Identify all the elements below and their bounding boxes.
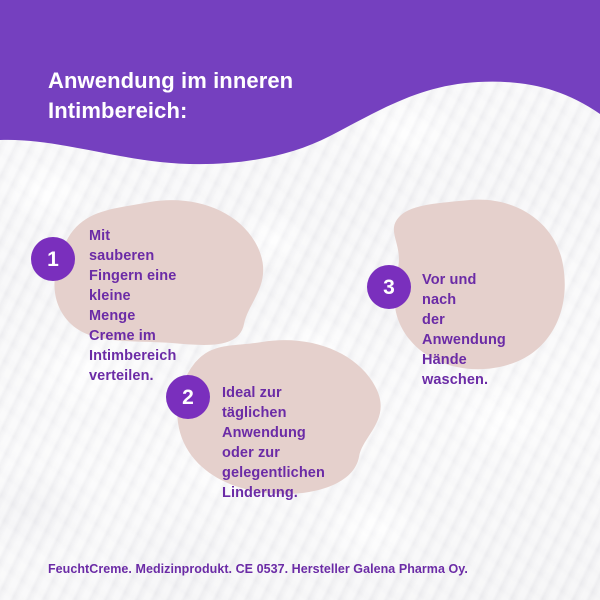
step-number-badge-3: 3 [367,265,411,309]
step-text-2: Ideal zur täglichen Anwendung oder zur g… [222,383,325,503]
step-number-badge-2: 2 [166,375,210,419]
page-title: Anwendung im inneren Intimbereich: [48,66,293,126]
step-number-badge-1: 1 [31,237,75,281]
infographic-panel: Anwendung im inneren Intimbereich: 1 Mit… [0,0,600,600]
footer-legal-note: FeuchtCreme. Medizinprodukt. CE 0537. He… [48,562,468,576]
step-text-1: Mit sauberen Fingern eine kleine Menge C… [89,226,176,386]
step-text-3: Vor und nach der Anwendung Hände waschen… [422,270,506,390]
